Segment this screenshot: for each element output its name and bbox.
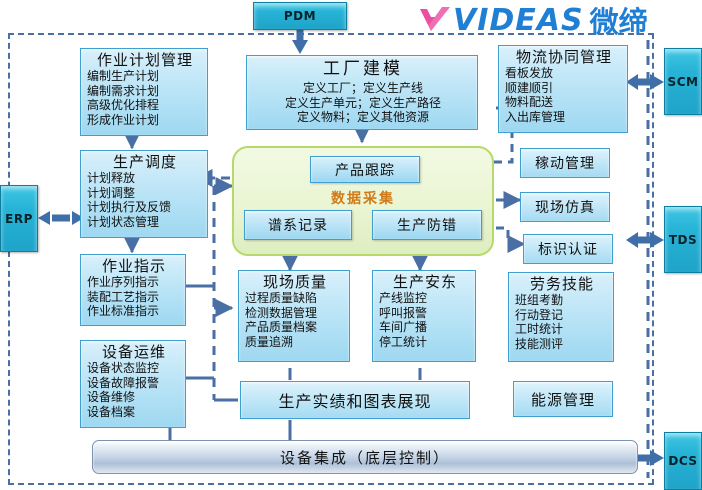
list-item: 行动登记: [515, 308, 609, 323]
list-item: 设备故障报警: [87, 376, 181, 391]
list-item: 设备档案: [87, 405, 181, 420]
list-item: 定义工厂；定义生产线: [253, 81, 473, 96]
list-item: 计划调整: [87, 186, 203, 201]
module-item-list: 班组考勤 行动登记 工时统计 技能测评: [515, 293, 609, 351]
module-title: 劳务技能: [515, 275, 609, 293]
list-item: 设备维修: [87, 390, 181, 405]
list-item: 班组考勤: [515, 293, 609, 308]
module-title: 工厂建模: [253, 60, 473, 78]
module-item-list: 设备状态监控 设备故障报警 设备维修 设备档案: [87, 361, 181, 419]
module-identification-authentication[interactable]: 标识认证: [523, 234, 613, 264]
module-label: 现场仿真: [535, 197, 595, 217]
list-item: 高级优化排程: [87, 98, 203, 113]
module-item-list: 定义工厂；定义生产线 定义生产单元；定义生产路径 定义物料；定义其他资源: [253, 81, 473, 125]
module-label: 能源管理: [531, 389, 595, 410]
list-item: 定义物料；定义其他资源: [253, 110, 473, 125]
equipment-integration-bar[interactable]: 设备集成（底层控制）: [92, 440, 638, 474]
list-item: 形成作业计划: [87, 113, 203, 128]
core-box-product-tracking[interactable]: 产品跟踪: [310, 156, 420, 183]
list-item: 呼叫报警: [379, 306, 471, 321]
list-item: 车间广播: [379, 320, 471, 335]
module-andon[interactable]: 生产安东 产线监控 呼叫报警 车间广播 停工统计: [372, 270, 476, 362]
module-item-list: 过程质量缺陷 检测数据管理 产品质量档案 质量追溯: [245, 291, 345, 349]
list-item: 技能测评: [515, 337, 609, 352]
module-label: 稼动管理: [535, 153, 595, 173]
core-data-collection-panel: 产品跟踪 数据采集 谱系记录 生产防错: [232, 146, 494, 256]
core-box-label: 产品跟踪: [335, 160, 395, 180]
external-system-scm[interactable]: SCM: [664, 48, 702, 115]
module-title: 生产调度: [87, 153, 203, 171]
external-system-tds-label: TDS: [669, 233, 697, 247]
external-system-pdm-label: PDM: [284, 9, 316, 23]
module-field-quality[interactable]: 现场质量 过程质量缺陷 检测数据管理 产品质量档案 质量追溯: [238, 270, 350, 362]
list-item: 计划状态管理: [87, 215, 203, 230]
external-system-dcs[interactable]: DCS: [664, 432, 702, 490]
module-logistics-collaboration[interactable]: 物流协同管理 看板发放 顺建顺引 物料配送 入出库管理: [498, 45, 628, 133]
list-item: 编制生产计划: [87, 69, 203, 84]
module-label: 标识认证: [538, 239, 598, 259]
module-title: 生产安东: [379, 273, 471, 291]
module-title: 作业指示: [87, 257, 181, 275]
module-production-report[interactable]: 生产实绩和图表展现: [240, 381, 470, 419]
list-item: 计划释放: [87, 171, 203, 186]
list-item: 入出库管理: [505, 110, 623, 125]
core-box-label: 谱系记录: [268, 215, 328, 235]
list-item: 作业序列指示: [87, 275, 181, 290]
module-item-list: 看板发放 顺建顺引 物料配送 入出库管理: [505, 66, 623, 124]
external-system-erp-label: ERP: [5, 212, 33, 226]
list-item: 编制需求计划: [87, 84, 203, 99]
module-production-plan[interactable]: 作业计划管理 编制生产计划 编制需求计划 高级优化排程 形成作业计划: [80, 48, 208, 136]
module-title: 物流协同管理: [505, 48, 623, 66]
list-item: 定义生产单元；定义生产路径: [253, 96, 473, 111]
external-system-pdm[interactable]: PDM: [253, 2, 347, 30]
module-energy-management[interactable]: 能源管理: [513, 381, 613, 417]
core-box-error-proofing[interactable]: 生产防错: [372, 210, 482, 240]
module-production-scheduling[interactable]: 生产调度 计划释放 计划调整 计划执行及反馈 计划状态管理: [80, 150, 208, 238]
external-system-scm-label: SCM: [668, 75, 699, 89]
list-item: 设备状态监控: [87, 361, 181, 376]
list-item: 检测数据管理: [245, 306, 345, 321]
equipment-integration-label: 设备集成（底层控制）: [280, 447, 450, 468]
list-item: 装配工艺指示: [87, 290, 181, 305]
list-item: 停工统计: [379, 335, 471, 350]
module-item-list: 计划释放 计划调整 计划执行及反馈 计划状态管理: [87, 171, 203, 229]
list-item: 质量追溯: [245, 335, 345, 350]
module-label: 生产实绩和图表展现: [278, 388, 431, 412]
list-item: 顺建顺引: [505, 81, 623, 96]
module-utilization-management[interactable]: 稼动管理: [520, 148, 610, 178]
list-item: 过程质量缺陷: [245, 291, 345, 306]
list-item: 产线监控: [379, 291, 471, 306]
core-box-genealogy-record[interactable]: 谱系记录: [244, 210, 352, 240]
module-title: 现场质量: [245, 273, 345, 291]
module-item-list: 产线监控 呼叫报警 车间广播 停工统计: [379, 291, 471, 349]
list-item: 作业标准指示: [87, 304, 181, 319]
module-equipment-maintenance[interactable]: 设备运维 设备状态监控 设备故障报警 设备维修 设备档案: [80, 340, 186, 428]
list-item: 产品质量档案: [245, 320, 345, 335]
list-item: 物料配送: [505, 95, 623, 110]
module-factory-modeling[interactable]: 工厂建模 定义工厂；定义生产线 定义生产单元；定义生产路径 定义物料；定义其他资…: [246, 55, 478, 130]
module-title: 作业计划管理: [87, 51, 203, 69]
diagram-canvas: VIDEAS 微缔: [0, 0, 702, 490]
core-center-label: 数据采集: [234, 188, 492, 208]
list-item: 看板发放: [505, 66, 623, 81]
list-item: 计划执行及反馈: [87, 200, 203, 215]
module-work-instruction[interactable]: 作业指示 作业序列指示 装配工艺指示 作业标准指示: [80, 254, 186, 326]
module-item-list: 作业序列指示 装配工艺指示 作业标准指示: [87, 275, 181, 319]
module-item-list: 编制生产计划 编制需求计划 高级优化排程 形成作业计划: [87, 69, 203, 127]
core-box-label: 生产防错: [397, 215, 457, 235]
external-system-tds[interactable]: TDS: [664, 206, 702, 273]
external-system-dcs-label: DCS: [668, 454, 697, 468]
module-title: 设备运维: [87, 343, 181, 361]
module-labor-skills[interactable]: 劳务技能 班组考勤 行动登记 工时统计 技能测评: [508, 272, 614, 362]
v-check-icon: [418, 5, 452, 35]
list-item: 工时统计: [515, 322, 609, 337]
external-system-erp[interactable]: ERP: [0, 185, 38, 252]
module-field-simulation[interactable]: 现场仿真: [520, 192, 610, 222]
